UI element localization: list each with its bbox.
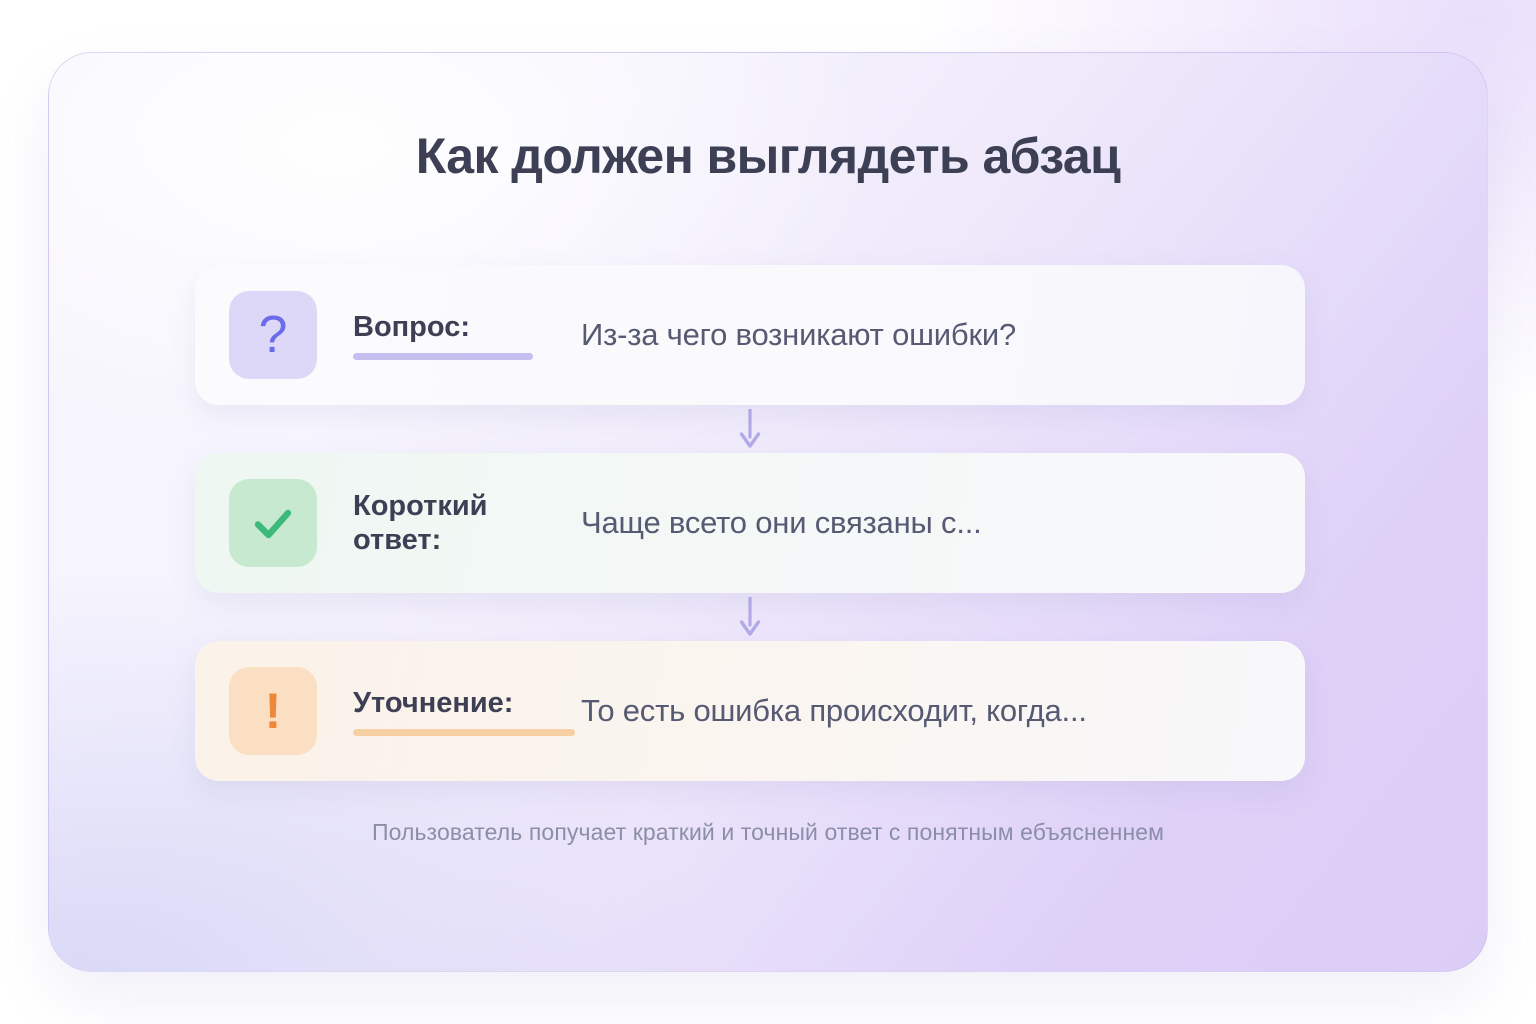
question-body-text: Из-за чего возникают ошибки? bbox=[581, 316, 1271, 353]
question-label: Вопрос: bbox=[353, 310, 575, 344]
screen-root: Как должен выглядеть абзац ? Вопрос: Из-… bbox=[0, 0, 1536, 1024]
question-icon-box: ? bbox=[229, 291, 317, 379]
flow-row-question[interactable]: ? Вопрос: Из-за чего возникают ошибки? bbox=[195, 265, 1305, 405]
note-label-col: Уточнение: bbox=[353, 686, 575, 736]
answer-body-text: Чаще всето они связаны с... bbox=[581, 504, 1271, 541]
flow-rows: ? Вопрос: Из-за чего возникают ошибки? bbox=[195, 265, 1305, 781]
diagram-panel-inner: Как должен выглядеть абзац ? Вопрос: Из-… bbox=[49, 53, 1487, 971]
note-label: Уточнение: bbox=[353, 686, 575, 720]
question-mark-icon: ? bbox=[259, 309, 288, 361]
question-label-underline bbox=[353, 353, 533, 360]
check-mark-icon bbox=[247, 497, 299, 549]
flow-row-note[interactable]: ! Уточнение: То есть ошибка происходит, … bbox=[195, 641, 1305, 781]
question-label-col: Вопрос: bbox=[353, 310, 575, 360]
note-icon-box: ! bbox=[229, 667, 317, 755]
flow-row-answer[interactable]: Короткий ответ: Чаще всето они связаны с… bbox=[195, 453, 1305, 593]
note-label-underline bbox=[353, 729, 575, 736]
exclamation-mark-icon: ! bbox=[265, 686, 282, 736]
arrow-down-icon bbox=[737, 597, 763, 637]
answer-label: Короткий ответ: bbox=[353, 489, 575, 557]
answer-icon-box bbox=[229, 479, 317, 567]
note-body-text: То есть ошибка происходит, когда... bbox=[581, 692, 1271, 729]
footer-note: Пользователь попучает краткий и точный о… bbox=[49, 819, 1487, 846]
diagram-panel: Как должен выглядеть абзац ? Вопрос: Из-… bbox=[48, 52, 1488, 972]
arrow-down-icon bbox=[737, 409, 763, 449]
connector-answer-to-note bbox=[195, 593, 1305, 641]
page-title: Как должен выглядеть абзац bbox=[49, 127, 1487, 185]
answer-label-col: Короткий ответ: bbox=[353, 489, 575, 557]
connector-question-to-answer bbox=[195, 405, 1305, 453]
